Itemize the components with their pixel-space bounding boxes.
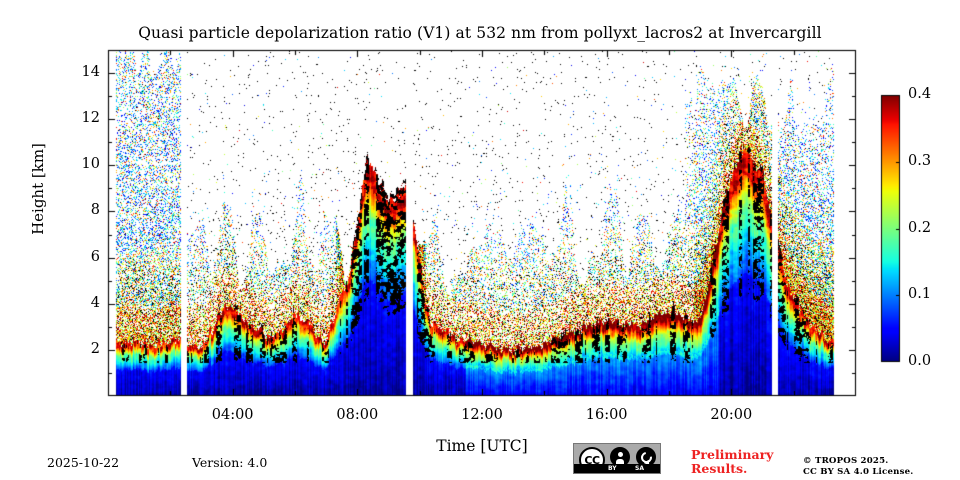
- x-tick-label-0400: 04:00: [193, 407, 273, 423]
- copyright-line-1: © TROPOS 2025.: [803, 456, 913, 467]
- y-tick-label-14: 14: [56, 64, 100, 80]
- x-tick-label-1200: 12:00: [442, 407, 522, 423]
- x-tick-label-1600: 16:00: [567, 407, 647, 423]
- colorbar-tick-0.2: 0.2: [908, 220, 931, 236]
- footer-date: 2025-10-22: [47, 455, 119, 470]
- person-head: [618, 452, 623, 457]
- cc-sa-label: SA: [635, 464, 644, 473]
- y-tick-label-12: 12: [56, 110, 100, 126]
- page-title: Quasi particle depolarization ratio (V1)…: [0, 24, 960, 42]
- y-tick-label-2: 2: [56, 341, 100, 357]
- copyright-line-2: CC BY SA 4.0 License.: [803, 467, 913, 478]
- figure-root: Quasi particle depolarization ratio (V1)…: [0, 0, 960, 480]
- cc-by-label: BY: [608, 464, 617, 473]
- x-tick-label-0800: 08:00: [317, 407, 397, 423]
- preliminary-line-2: Results.: [691, 462, 773, 476]
- y-tick-label-8: 8: [56, 202, 100, 218]
- cc-license-badge[interactable]: CC BY SA: [573, 443, 661, 474]
- x-tick-label-2000: 20:00: [691, 407, 771, 423]
- cc-badge-label-band: BY SA: [574, 464, 660, 473]
- y-tick-label-10: 10: [56, 156, 100, 172]
- colorbar-tick-0.0: 0.0: [908, 353, 931, 369]
- colorbar-tick-0.1: 0.1: [908, 286, 931, 302]
- colorbar-tick-0.3: 0.3: [908, 153, 931, 169]
- preliminary-results-note: Preliminary Results.: [691, 448, 773, 475]
- preliminary-line-1: Preliminary: [691, 448, 773, 462]
- y-tick-label-6: 6: [56, 249, 100, 265]
- copyright-note: © TROPOS 2025. CC BY SA 4.0 License.: [803, 456, 913, 478]
- colorbar-tick-0.4: 0.4: [908, 86, 931, 102]
- y-tick-label-4: 4: [56, 295, 100, 311]
- footer-version: Version: 4.0: [192, 455, 267, 470]
- y-axis-label: Height [km]: [29, 99, 47, 279]
- share-alike-arrow: [638, 449, 653, 464]
